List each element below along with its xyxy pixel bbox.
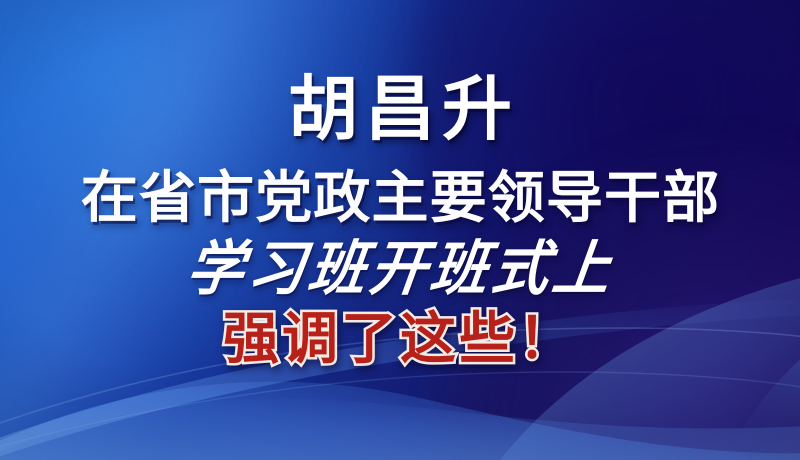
poster-text-block: 胡昌升 在省市党政主要领导干部 学习班开班式上 强调了这些！ <box>0 0 800 460</box>
poster-emphasis-line: 强调了这些！ <box>223 311 577 367</box>
poster-name-line: 胡昌升 <box>281 74 519 144</box>
poster-canvas: 胡昌升 在省市党政主要领导干部 学习班开班式上 强调了这些！ <box>0 0 800 460</box>
poster-calligraphy-line: 学习班开班式上 <box>183 239 617 298</box>
poster-subtitle-line: 在省市党政主要领导干部 <box>80 170 720 226</box>
